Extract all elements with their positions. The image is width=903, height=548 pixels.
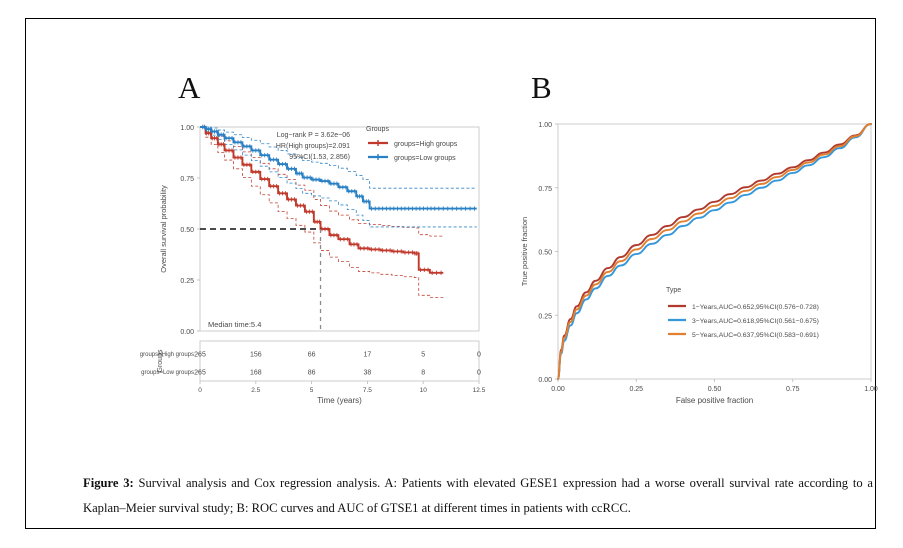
- risk-table-cell: 17: [364, 352, 372, 359]
- median-time-annotation: Median time:5.4: [208, 320, 261, 329]
- legend-item-label: groups=High groups: [394, 141, 458, 148]
- roc-panel: 0.000.250.500.751.000.000.250.500.751.00…: [516, 114, 886, 414]
- stats-line: HR(High groups)=2.091: [276, 143, 350, 150]
- risk-table-cell: 265: [194, 370, 206, 377]
- panel-a-letter: A: [178, 72, 200, 103]
- risk-table-cell: 8: [421, 370, 425, 377]
- y-tick-label: 0.75: [180, 176, 194, 183]
- y-tick-label: 0.75: [538, 186, 552, 193]
- x-tick-label: 0.75: [786, 386, 800, 393]
- panel-b-letter: B: [531, 72, 552, 103]
- risk-table-axis-label: Groups: [157, 349, 164, 372]
- legend-item-label: groups=Low groups: [394, 155, 456, 162]
- risk-table-cell: 38: [364, 370, 372, 377]
- roc-chart: 0.000.250.500.751.000.000.250.500.751.00…: [516, 114, 886, 414]
- x-tick-label: 0.00: [551, 386, 565, 393]
- risk-table-cell: 265: [194, 352, 206, 359]
- stats-line: Log−rank P = 3.62e−06: [277, 132, 350, 139]
- y-tick-label: 0.00: [180, 329, 194, 336]
- x-tick-label: 2.5: [251, 387, 260, 394]
- stats-line: 95%CI(1.53, 2.856): [289, 154, 350, 161]
- risk-table-cell: 0: [477, 352, 481, 359]
- legend-title: Groups: [366, 126, 389, 133]
- risk-table-cell: 66: [308, 352, 316, 359]
- risk-table-cell: 0: [477, 370, 481, 377]
- kaplan-meier-chart: 0.000.250.500.751.0002.557.51012.5Time (…: [154, 119, 484, 409]
- risk-table-row-label: groups=High groups: [140, 352, 194, 358]
- y-tick-label: 0.50: [180, 227, 194, 234]
- y-tick-label: 0.50: [538, 250, 552, 257]
- risk-table-row-label: groups=Low groups: [141, 370, 194, 376]
- kaplan-meier-panel: 0.000.250.500.751.0002.557.51012.5Time (…: [154, 119, 484, 409]
- legend-item-label: 3−Years,AUC=0.618,95%CI(0.561−0.675): [692, 318, 819, 325]
- y-tick-label: 0.25: [180, 278, 194, 285]
- legend-item-label: 5−Years,AUC=0.637,95%CI(0.583−0.691): [692, 332, 819, 339]
- risk-table-cell: 5: [421, 352, 425, 359]
- figure-caption-label: Figure 3:: [83, 476, 134, 490]
- risk-table-cell: 168: [250, 370, 262, 377]
- risk-table-border: [200, 341, 479, 381]
- legend-title: Type: [666, 287, 681, 294]
- x-axis-label: Time (years): [317, 396, 362, 405]
- figure-caption-text: Survival analysis and Cox regression ana…: [83, 476, 873, 515]
- plot-area-border: [558, 124, 871, 379]
- y-tick-label: 0.00: [538, 377, 552, 384]
- x-tick-label: 0.50: [708, 386, 722, 393]
- x-tick-label: 12.5: [473, 387, 486, 394]
- x-tick-label: 10: [420, 387, 428, 394]
- x-tick-label: 0: [198, 387, 202, 394]
- x-tick-label: 5: [310, 387, 314, 394]
- figure-frame: A B 0.000.250.500.751.0002.557.51012.5Ti…: [25, 18, 876, 529]
- risk-table-cell: 156: [250, 352, 262, 359]
- x-tick-label: 7.5: [363, 387, 372, 394]
- risk-table-cell: 86: [308, 370, 316, 377]
- x-tick-label: 0.25: [629, 386, 643, 393]
- x-axis-label: False positive fraction: [676, 396, 753, 405]
- y-tick-label: 0.25: [538, 313, 552, 320]
- figure-caption: Figure 3: Survival analysis and Cox regr…: [83, 471, 873, 520]
- y-tick-label: 1.00: [180, 125, 194, 132]
- x-tick-label: 1.00: [864, 386, 878, 393]
- y-tick-label: 1.00: [538, 122, 552, 129]
- y-axis-label: Overall survival probability: [159, 185, 168, 273]
- figure-page: A B 0.000.250.500.751.0002.557.51012.5Ti…: [0, 0, 903, 548]
- legend-item-label: 1−Years,AUC=0.652,95%CI(0.576−0.728): [692, 304, 819, 311]
- y-axis-label: True positive fraction: [520, 217, 529, 286]
